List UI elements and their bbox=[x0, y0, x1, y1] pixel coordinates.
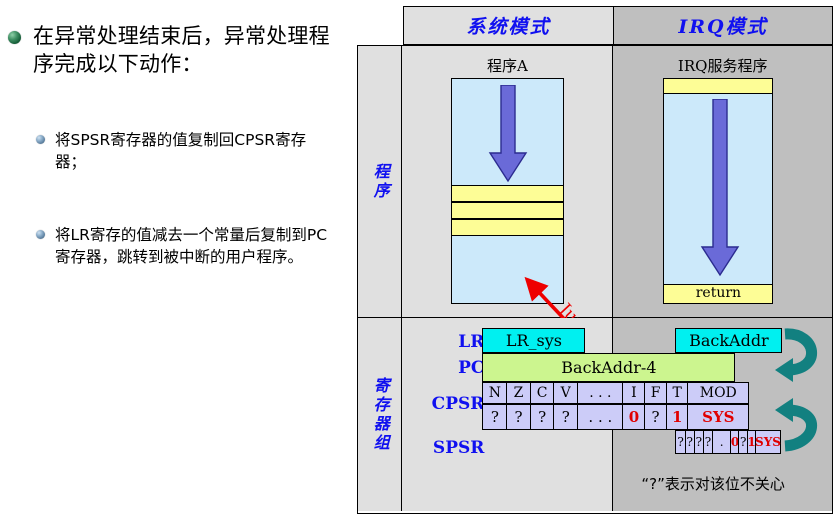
cpsr-flag-value-7: 1 bbox=[666, 404, 689, 430]
register-label-cpsr: CPSR bbox=[432, 394, 485, 414]
copy-arrow-spsr-to-cpsr-head bbox=[775, 398, 793, 422]
register-label-spsr: SPSR bbox=[433, 438, 484, 458]
program-box-irq-handler: return bbox=[663, 78, 773, 304]
bullet-level2-label-1: 将SPSR寄存器的值复制回CPSR寄存器； bbox=[55, 129, 336, 173]
cpsr-flag-value-row: ????. . .0?1SYS bbox=[482, 404, 749, 430]
row-label-program-cell: 程序 bbox=[358, 46, 402, 317]
program-box-a bbox=[451, 78, 564, 304]
bullet-level2-item-2: 将LR寄存的值减去一个常量后复制到PC寄存器，跳转到被中断的用户程序。 bbox=[36, 224, 336, 268]
cpsr-flag-name-8: MOD bbox=[687, 382, 749, 404]
bullet-text-panel: 在异常处理结束后，异常处理程序完成以下动作： 将SPSR寄存器的值复制回CPSR… bbox=[0, 0, 352, 520]
irq-entry-band bbox=[664, 79, 772, 94]
register-label-lr: LR bbox=[458, 332, 484, 352]
bullet-level1: 在异常处理结束后，异常处理程序完成以下动作： bbox=[8, 22, 338, 78]
header-cell-system-mode: 系统模式 bbox=[403, 6, 614, 45]
sub-bullet-sphere-icon bbox=[36, 230, 45, 239]
cpsr-flag-name-7: T bbox=[666, 382, 689, 404]
cpsr-flag-name-0: N bbox=[482, 382, 507, 404]
register-value-lr-sys: LR_sys bbox=[482, 328, 585, 353]
cpsr-flag-name-1: Z bbox=[506, 382, 531, 404]
row-label-registers-cell: 寄存器组 bbox=[358, 318, 402, 511]
cpsr-flag-name-5: I bbox=[622, 382, 645, 404]
cpsr-flag-value-2: ? bbox=[530, 404, 555, 430]
interrupt-band-3 bbox=[452, 219, 563, 236]
row-label-program: 程序 bbox=[368, 163, 392, 201]
cpsr-flag-value-0: ? bbox=[482, 404, 507, 430]
program-cell-system: 程序A bbox=[402, 46, 613, 317]
interrupt-band-1 bbox=[452, 185, 563, 202]
header-label-irq-mode: IRQ模式 bbox=[678, 12, 767, 39]
cpsr-flag-value-6: ? bbox=[644, 404, 667, 430]
cpsr-flag-value-8: SYS bbox=[687, 404, 749, 430]
spsr-flag-value-4: . bbox=[712, 430, 732, 454]
copy-arrow-overlay bbox=[763, 318, 833, 488]
cpsr-flag-value-1: ? bbox=[506, 404, 531, 430]
row-label-registers: 寄存器组 bbox=[368, 377, 392, 453]
cpsr-flag-name-6: F bbox=[644, 382, 667, 404]
cpsr-flag-value-4: . . . bbox=[577, 404, 624, 430]
cpsr-flag-name-2: C bbox=[530, 382, 555, 404]
header-label-system-mode: 系统模式 bbox=[466, 12, 550, 39]
interrupt-band-2 bbox=[452, 202, 563, 219]
execution-arrow-down-a bbox=[486, 85, 530, 183]
bullet-level2-item-1: 将SPSR寄存器的值复制回CPSR寄存器； bbox=[36, 129, 336, 173]
execution-arrow-down-irq bbox=[698, 99, 742, 277]
program-title-irq: IRQ服务程序 bbox=[613, 55, 832, 76]
sub-bullet-sphere-icon bbox=[36, 135, 45, 144]
cpsr-flag-value-3: ? bbox=[553, 404, 578, 430]
diagram-header-row: 系统模式 IRQ模式 bbox=[403, 6, 833, 45]
program-title-system: 程序A bbox=[402, 55, 612, 76]
register-cell-system: LR PC CPSR SPSR LR_sys BackAddr-4 NZCV. … bbox=[402, 318, 613, 511]
bullet-sphere-icon bbox=[8, 31, 21, 44]
header-cell-irq-mode: IRQ模式 bbox=[614, 6, 833, 45]
bullet-level2-label-2: 将LR寄存的值减去一个常量后复制到PC寄存器，跳转到被中断的用户程序。 bbox=[55, 224, 336, 268]
copy-arrow-lr-to-pc-head bbox=[775, 358, 793, 382]
return-label: return bbox=[664, 286, 772, 301]
cpsr-flag-name-3: V bbox=[553, 382, 578, 404]
diagram-row-program: 程序 程序A IRQ服务程序 bbox=[358, 46, 832, 318]
cpsr-flag-value-5: 0 bbox=[622, 404, 645, 430]
program-cell-irq: IRQ服务程序 return bbox=[613, 46, 832, 317]
mode-transition-diagram: 系统模式 IRQ模式 程序 程序A bbox=[357, 6, 833, 514]
register-label-pc: PC bbox=[458, 358, 484, 378]
diagram-body-grid: 程序 程序A IRQ服务程序 bbox=[357, 45, 833, 514]
register-value-pc: BackAddr-4 bbox=[482, 353, 735, 382]
bullet-level1-label: 在异常处理结束后，异常处理程序完成以下动作： bbox=[33, 22, 338, 78]
cpsr-flag-name-row: NZCV. . .IFTMOD bbox=[482, 382, 749, 404]
cpsr-flag-name-4: . . . bbox=[577, 382, 624, 404]
diagram-row-registers: 寄存器组 LR PC CPSR SPSR LR_sys BackAddr-4 N… bbox=[358, 318, 832, 511]
